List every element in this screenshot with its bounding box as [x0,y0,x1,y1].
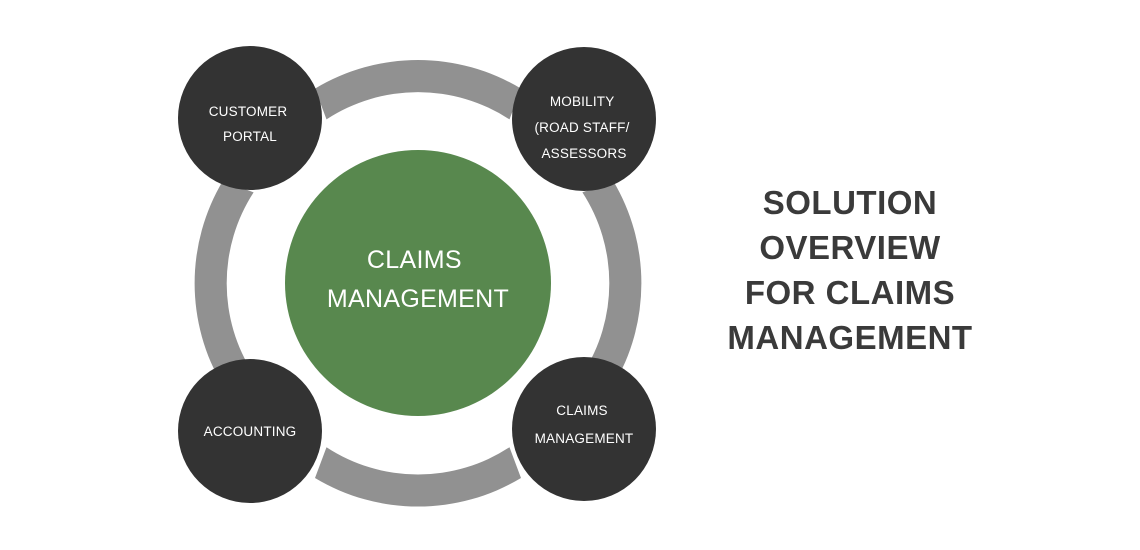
node-claims-management[interactable]: CLAIMS MANAGEMENT [512,357,656,501]
center-label-line-1: CLAIMS [367,246,462,274]
node-customer-portal-line-1: CUSTOMER [209,104,288,119]
page-title: SOLUTION OVERVIEW FOR CLAIMS MANAGEMENT [700,180,1000,360]
arc-top-icon [315,60,521,119]
page-title-line-1: SOLUTION [700,180,1000,225]
page-title-line-2: OVERVIEW [700,225,1000,270]
arc-left-icon [195,181,254,386]
node-claims-management-circle[interactable] [512,357,656,501]
center-node[interactable]: CLAIMS MANAGEMENT [285,150,551,416]
page-title-line-4: MANAGEMENT [700,315,1000,360]
node-mobility-line-1: MOBILITY [550,94,614,109]
node-accounting-line-1: ACCOUNTING [204,424,297,439]
arc-bottom-icon [315,447,521,506]
node-claims-management-line-2: MANAGEMENT [535,431,634,446]
node-customer-portal[interactable]: CUSTOMER PORTAL [178,46,322,190]
node-accounting[interactable]: ACCOUNTING [178,359,322,503]
node-mobility[interactable]: MOBILITY (ROAD STAFF/ ASSESSORS [512,47,656,191]
solution-overview-infographic: CLAIMS MANAGEMENT CUSTOMER PORTAL MOBILI… [0,0,1140,550]
node-mobility-line-3: ASSESSORS [541,146,626,161]
arc-right-icon [582,181,641,386]
node-accounting-label: ACCOUNTING [204,424,297,439]
center-circle[interactable] [285,150,551,416]
page-title-line-3: FOR CLAIMS [700,270,1000,315]
node-claims-management-line-1: CLAIMS [556,403,607,418]
node-mobility-line-2: (ROAD STAFF/ [534,120,629,135]
node-mobility-circle[interactable] [512,47,656,191]
node-customer-portal-line-2: PORTAL [223,129,277,144]
center-label-line-2: MANAGEMENT [327,285,509,313]
